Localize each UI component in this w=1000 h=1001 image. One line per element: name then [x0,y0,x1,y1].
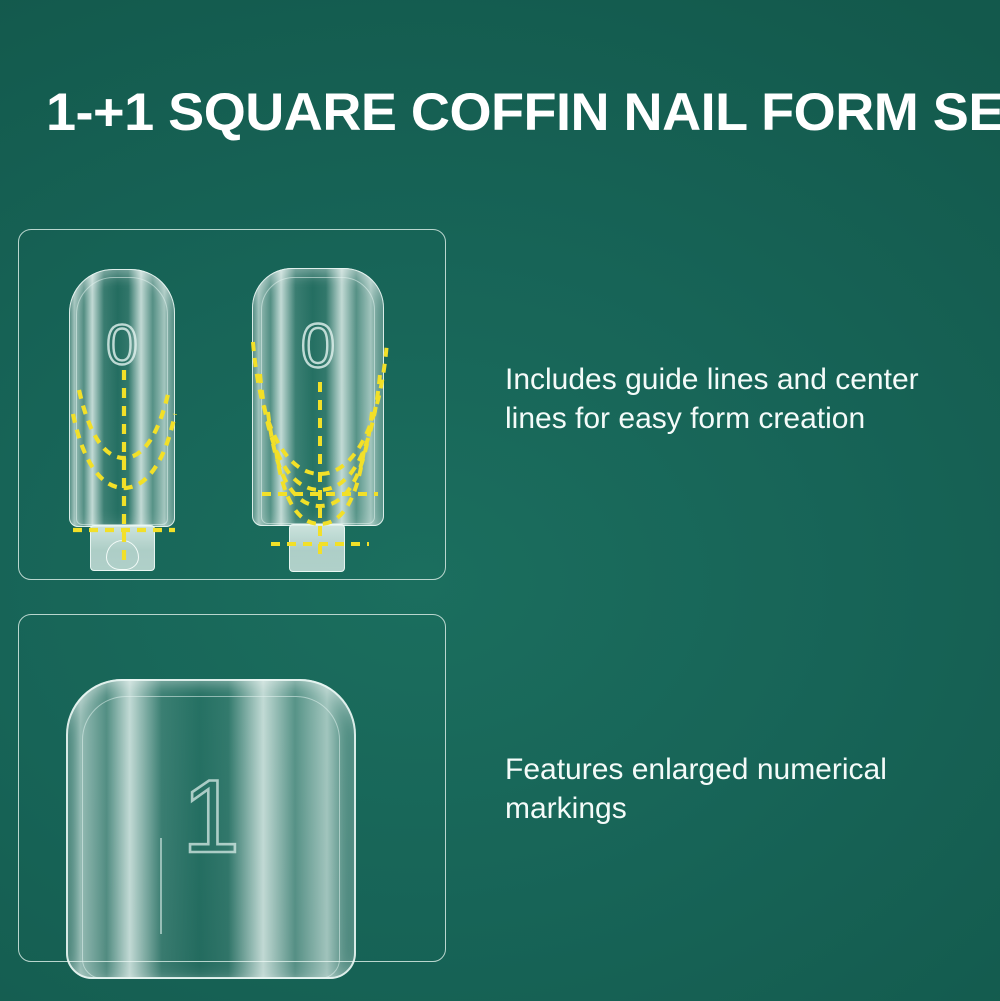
feature-text-line-1: Includes guide lines and center [505,360,1000,399]
page-title: 1-+1 SQUARE COFFIN NAIL FORM SET [46,84,995,142]
center-line-marking [160,838,162,934]
guide-lines-left [60,262,188,562]
nail-form-closeup: 1 [66,679,356,979]
product-feature-graphic: 1-+1 SQUARE COFFIN NAIL FORM SET 0 0 [0,0,1000,1001]
feature-text-line-2: lines for easy form creation [505,399,1000,438]
form-marking-numeral: 1 [66,765,356,869]
guide-lines-right [238,262,402,572]
feature-text-numerical-markings: Features enlarged numerical markings [505,750,1000,828]
feature-text-line-1: Features enlarged numerical [505,750,1000,789]
feature-text-guide-lines: Includes guide lines and center lines fo… [505,360,1000,438]
feature-text-line-2: markings [505,789,1000,828]
